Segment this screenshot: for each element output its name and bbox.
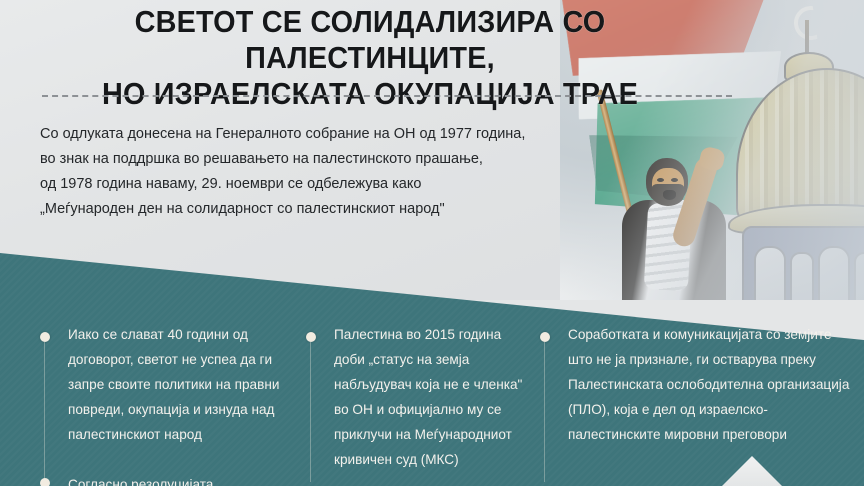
bullet-stem-line bbox=[310, 342, 311, 482]
facts-column-3: Соработката и комуникацијата со земјите … bbox=[540, 322, 858, 447]
dashed-divider bbox=[42, 95, 732, 97]
bullet-dot-icon-clipped bbox=[40, 478, 50, 486]
facts-column-2: Палестина во 2015 година доби „статус на… bbox=[306, 322, 532, 472]
bullet-dot-icon bbox=[40, 332, 50, 342]
list-item: Палестина во 2015 година доби „статус на… bbox=[306, 322, 532, 472]
bullet-text-clipped: Согласно резолуцијата bbox=[68, 472, 308, 486]
list-item: Иако се слават 40 години од договорот, с… bbox=[40, 322, 298, 447]
bullet-stem-line bbox=[44, 342, 45, 482]
bullet-stem-line bbox=[544, 342, 545, 482]
bullet-text: Иако се слават 40 години од договорот, с… bbox=[68, 322, 298, 447]
bullet-dot-icon bbox=[306, 332, 316, 342]
bullet-dot-icon bbox=[540, 332, 550, 342]
infographic-root: СВЕТОТ СЕ СОЛИДАЛИЗИРА СО ПАЛЕСТИНЦИТЕ, … bbox=[0, 0, 864, 486]
list-item: Соработката и комуникацијата со земјите … bbox=[540, 322, 858, 447]
bullet-text: Соработката и комуникацијата со земјите … bbox=[568, 322, 858, 447]
bullet-text: Палестина во 2015 година доби „статус на… bbox=[334, 322, 532, 472]
facts-column-1: Иако се слават 40 години од договорот, с… bbox=[40, 322, 298, 447]
intro-paragraph: Со одлуката донесена на Генералното собр… bbox=[40, 122, 560, 222]
facts-columns: Иако се слават 40 години од договорот, с… bbox=[0, 322, 864, 486]
